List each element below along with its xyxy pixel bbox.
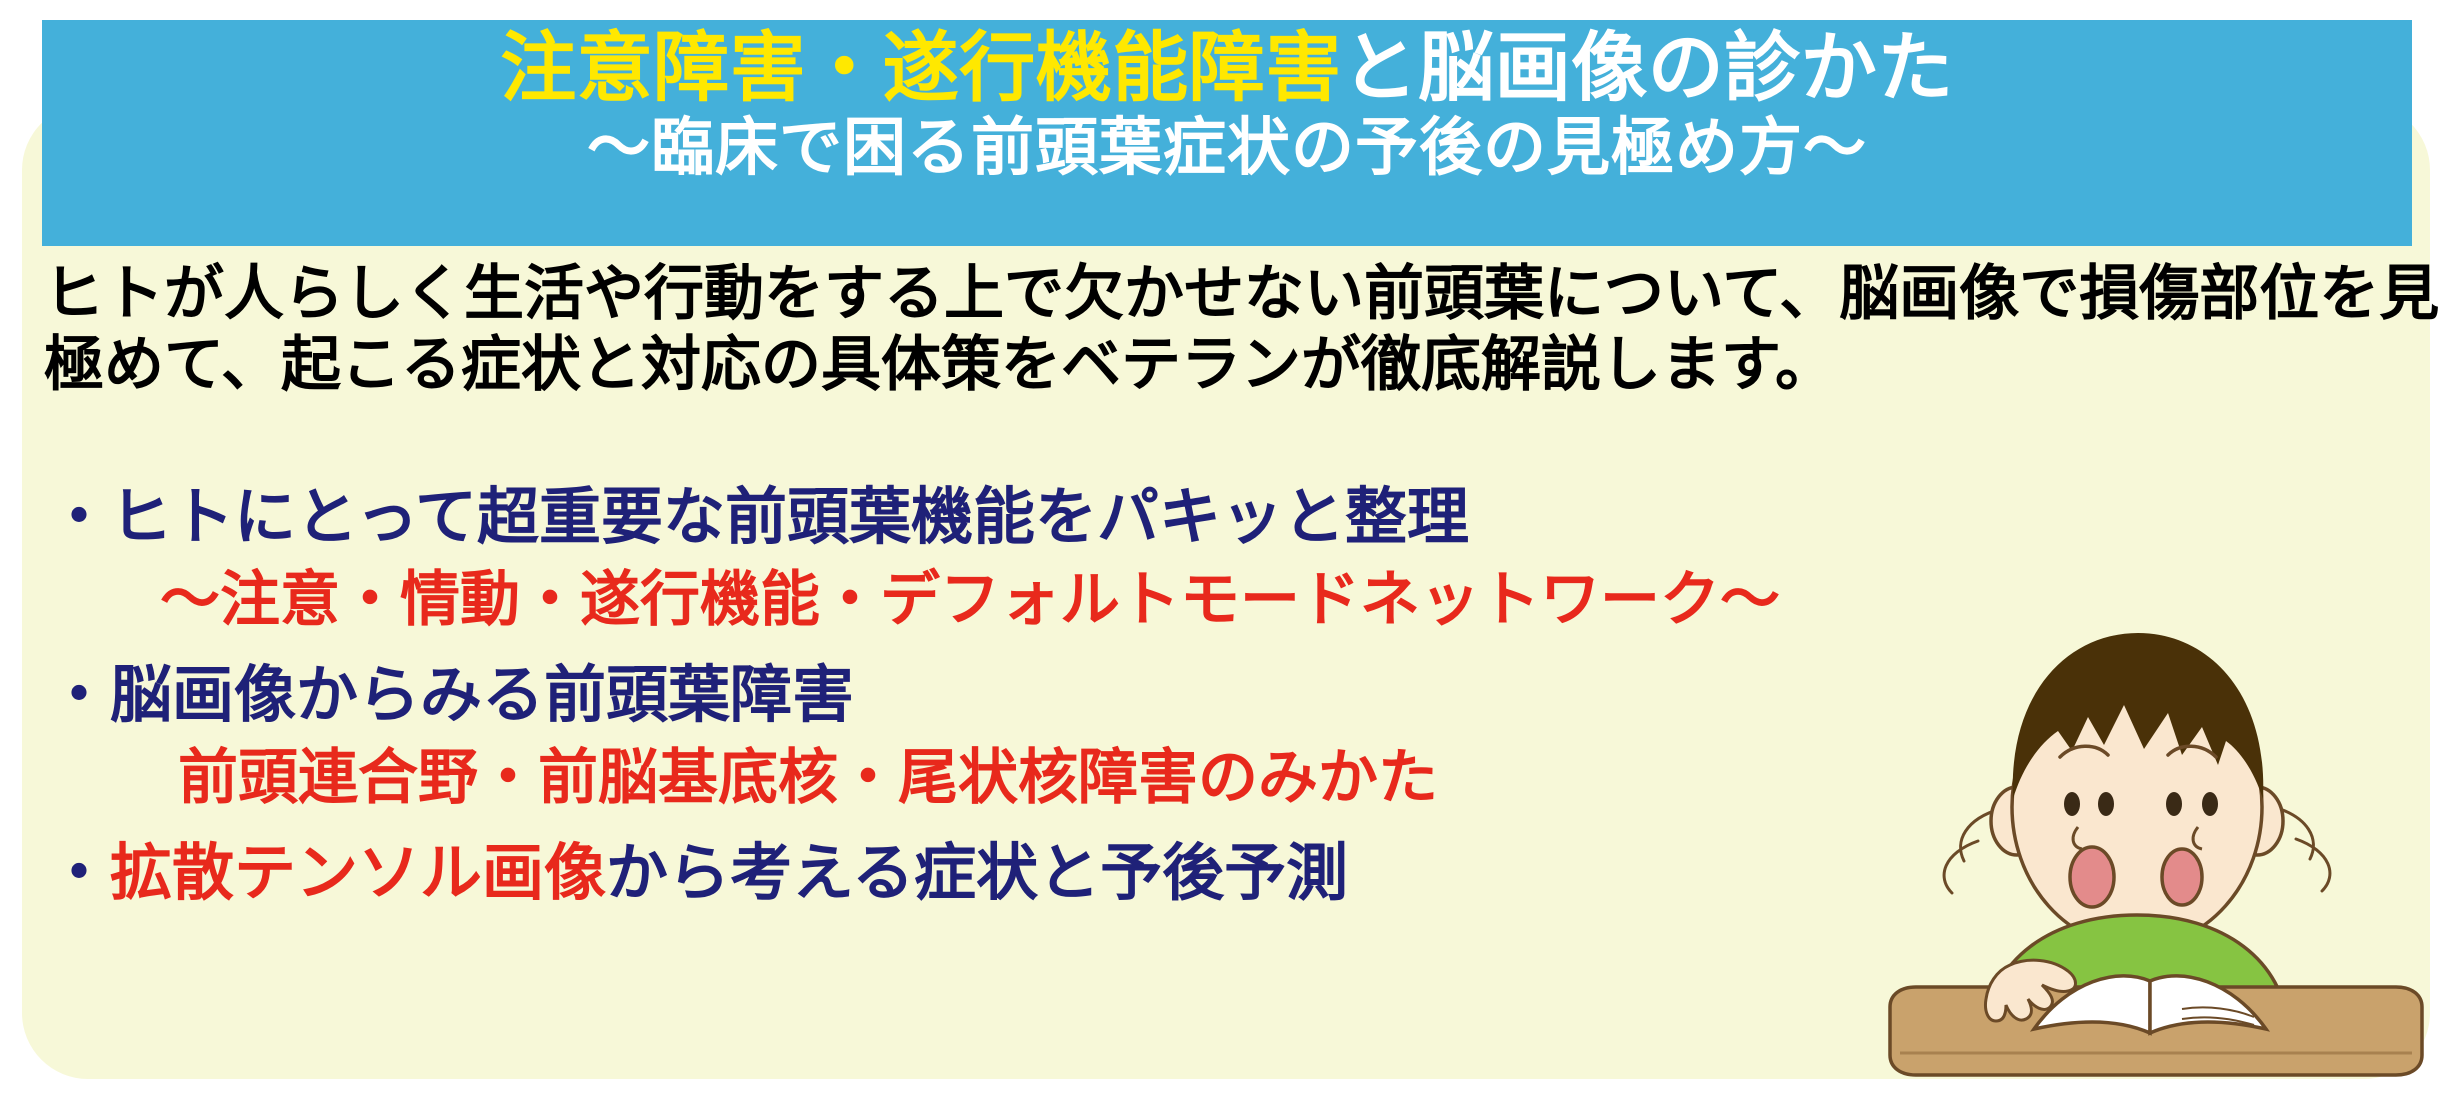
bullet-label-emphasis: 拡散テンソル画像 bbox=[110, 836, 606, 909]
header-bar: 注意障害・遂行機能障害と脳画像の診かた 〜臨床で困る前頭葉症状の予後の見極め方〜 bbox=[42, 20, 2412, 246]
lead-paragraph-line-2: 極めて、起こる症状と対応の具体策をベテランが徹底解説します。 bbox=[44, 330, 2414, 401]
bullet-label: ヒトにとって超重要な前頭葉機能をパキッと整理 bbox=[110, 480, 1469, 553]
list-item: ・拡散テンソル画像から考える症状と予後予測 bbox=[0, 842, 2452, 904]
list-item-subtext: 〜注意・情動・遂行機能・デフォルトモードネットワーク〜 bbox=[0, 570, 2452, 630]
bullet-marker: ・ bbox=[48, 658, 110, 731]
list-item: ・ヒトにとって超重要な前頭葉機能をパキッと整理 bbox=[0, 486, 2452, 548]
lead-paragraph: ヒトが人らしく生活や行動をする上で欠かせない前頭葉について、脳画像で損傷部位を見… bbox=[44, 259, 2414, 401]
page-title: 注意障害・遂行機能障害と脳画像の診かた bbox=[500, 28, 1954, 109]
lead-paragraph-line-1: ヒトが人らしく生活や行動をする上で欠かせない前頭葉について、脳画像で損傷部位を見 bbox=[44, 259, 2414, 330]
promotional-banner: 注意障害・遂行機能障害と脳画像の診かた 〜臨床で困る前頭葉症状の予後の見極め方〜… bbox=[0, 0, 2452, 1101]
bullet-label: から考える症状と予後予測 bbox=[606, 836, 1348, 909]
page-subtitle: 〜臨床で困る前頭葉症状の予後の見極め方〜 bbox=[587, 115, 1867, 182]
page-title-rest: と脳画像の診かた bbox=[1342, 23, 1954, 112]
bullet-list: ・ヒトにとって超重要な前頭葉機能をパキッと整理 〜注意・情動・遂行機能・デフォル… bbox=[0, 486, 2452, 904]
bullet-marker: ・ bbox=[48, 480, 110, 553]
page-title-highlight: 注意障害・遂行機能障害 bbox=[500, 23, 1342, 112]
bullet-marker: ・ bbox=[48, 836, 110, 909]
list-item-subtext: 前頭連合野・前脳基底核・尾状核障害のみかた bbox=[0, 748, 2452, 808]
bullet-label: 脳画像からみる前頭葉障害 bbox=[110, 658, 854, 731]
list-item: ・脳画像からみる前頭葉障害 bbox=[0, 664, 2452, 726]
content-area: ヒトが人らしく生活や行動をする上で欠かせない前頭葉について、脳画像で損傷部位を見… bbox=[0, 246, 2452, 1101]
